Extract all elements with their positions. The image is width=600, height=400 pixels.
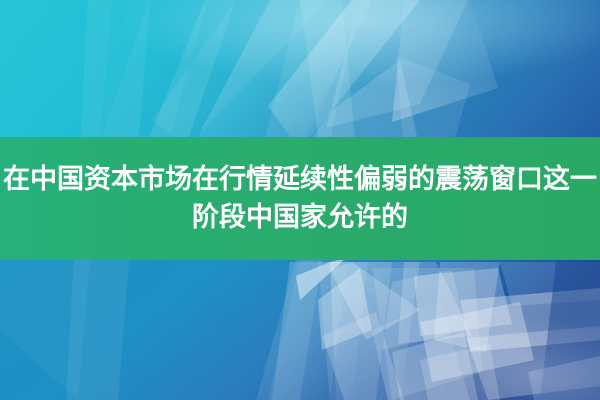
caption-line-1: 在中国资本市场在行情延续性偏弱的震荡窗口这一	[3, 161, 597, 199]
caption-band: 在中国资本市场在行情延续性偏弱的震荡窗口这一 阶段中国家允许的	[0, 137, 600, 260]
facet-group-lower	[256, 255, 600, 400]
banner-image: 在中国资本市场在行情延续性偏弱的震荡窗口这一 阶段中国家允许的	[0, 0, 600, 400]
caption-line-2: 阶段中国家允许的	[192, 199, 408, 237]
